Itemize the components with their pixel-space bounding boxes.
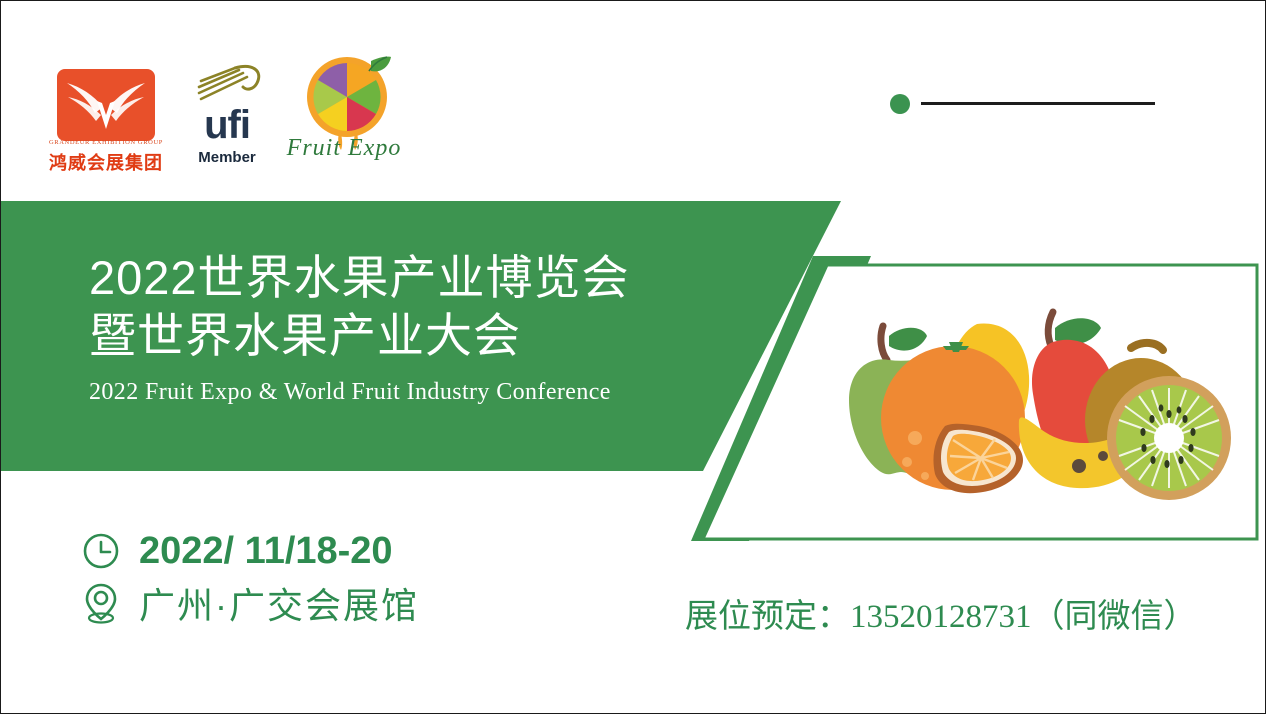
logo-row: GRANDEUR EXHIBITION GROUP 鸿威会展集团 ufi Mem… bbox=[47, 51, 399, 171]
title-subtitle-english: 2022 Fruit Expo & World Fruit Industry C… bbox=[89, 379, 729, 406]
event-info-block: 2022/ 11/18-20 广州·广交会展馆 bbox=[79, 525, 419, 629]
grandeur-chinese-name: 鸿威会展集团 bbox=[47, 149, 165, 175]
ufi-swoosh-icon bbox=[191, 63, 265, 105]
fruit-expo-logo: Fruit Expo bbox=[289, 51, 399, 171]
grandeur-wings-icon bbox=[57, 69, 155, 141]
fruit-image-frame bbox=[691, 263, 1261, 541]
clock-icon bbox=[79, 529, 123, 573]
event-venue-text: 广州·广交会展馆 bbox=[139, 577, 419, 629]
event-venue-row: 广州·广交会展馆 bbox=[79, 577, 419, 629]
kiwi-slice-illustration bbox=[1107, 376, 1231, 500]
booth-reservation-contact: 展位预定：13520128731（同微信） bbox=[685, 589, 1197, 637]
grandeur-english-name: GRANDEUR EXHIBITION GROUP bbox=[47, 139, 165, 146]
ufi-member-logo: ufi Member bbox=[183, 61, 271, 171]
ufi-member-label: Member bbox=[183, 149, 271, 166]
fruit-illustration bbox=[831, 298, 1231, 513]
event-date-row: 2022/ 11/18-20 bbox=[79, 525, 419, 577]
poster-canvas: GRANDEUR EXHIBITION GROUP 鸿威会展集团 ufi Mem… bbox=[0, 0, 1266, 714]
title-line-2: 暨世界水果产业大会 bbox=[89, 307, 729, 365]
fruit-expo-wordmark: Fruit Expo bbox=[281, 135, 407, 162]
banner-text-block: 2022世界水果产业博览会 暨世界水果产业大会 2022 Fruit Expo … bbox=[89, 249, 729, 406]
grandeur-exhibition-group-logo: GRANDEUR EXHIBITION GROUP 鸿威会展集团 bbox=[47, 61, 165, 171]
horizontal-rule-decoration bbox=[921, 102, 1155, 105]
location-pin-icon bbox=[79, 581, 123, 625]
green-dot-decoration bbox=[890, 94, 910, 114]
title-line-1: 2022世界水果产业博览会 bbox=[89, 249, 729, 307]
ufi-wordmark: ufi bbox=[183, 105, 271, 145]
event-date-text: 2022/ 11/18-20 bbox=[139, 530, 393, 573]
